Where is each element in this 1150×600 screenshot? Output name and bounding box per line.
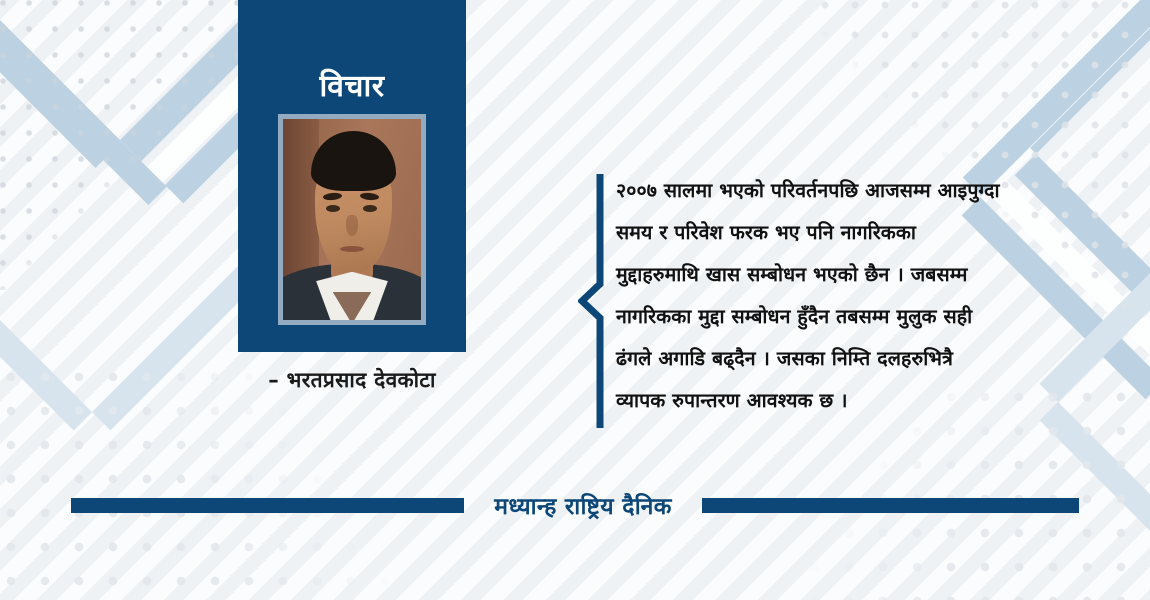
quote-card-canvas: विचार – भरतप्रसाद देवकोटा [0, 0, 1150, 600]
quote-line: २००७ सालमा भएको परिवर्तनपछि आजसम्म आइपुग… [616, 170, 1136, 212]
speaker-name: – भरतप्रसाद देवकोटा [238, 366, 466, 394]
panel-title: विचार [238, 72, 466, 102]
quote-line: नागरिकका मुद्दा सम्बोधन हुँदैन तबसम्म मु… [616, 296, 1136, 338]
footer-publication-name: मध्यान्ह राष्ट्रिय दैनिक [464, 489, 701, 521]
footer-rule-right [702, 498, 1079, 513]
footer: मध्यान्ह राष्ट्रिय दैनिक [0, 492, 1150, 518]
dot-pattern-bottom-left [0, 360, 480, 600]
quote-line: समय र परिवेश फरक भए पनि नागरिकका [616, 212, 1136, 254]
quote-line: ढंगले अगाडि बढ्दैन । जसका निम्ति दलहरुभि… [616, 338, 1136, 380]
photo-nose [346, 215, 357, 235]
portrait-panel: विचार [238, 0, 466, 352]
quote-bracket-icon [578, 174, 608, 428]
photo-eye-left [326, 205, 340, 212]
photo-mouth [340, 246, 365, 252]
portrait-photo [283, 119, 421, 320]
portrait-frame [278, 114, 426, 325]
quote-line: व्यापक रुपान्तरण आवश्यक छ । [616, 380, 1136, 422]
quote-text: २००७ सालमा भएको परिवर्तनपछि आजसम्म आइपुग… [616, 170, 1136, 422]
quote-line: मुद्दाहरुमाथि खास सम्बोधन भएको छैन । जबस… [616, 254, 1136, 296]
footer-rule-left [71, 498, 464, 513]
